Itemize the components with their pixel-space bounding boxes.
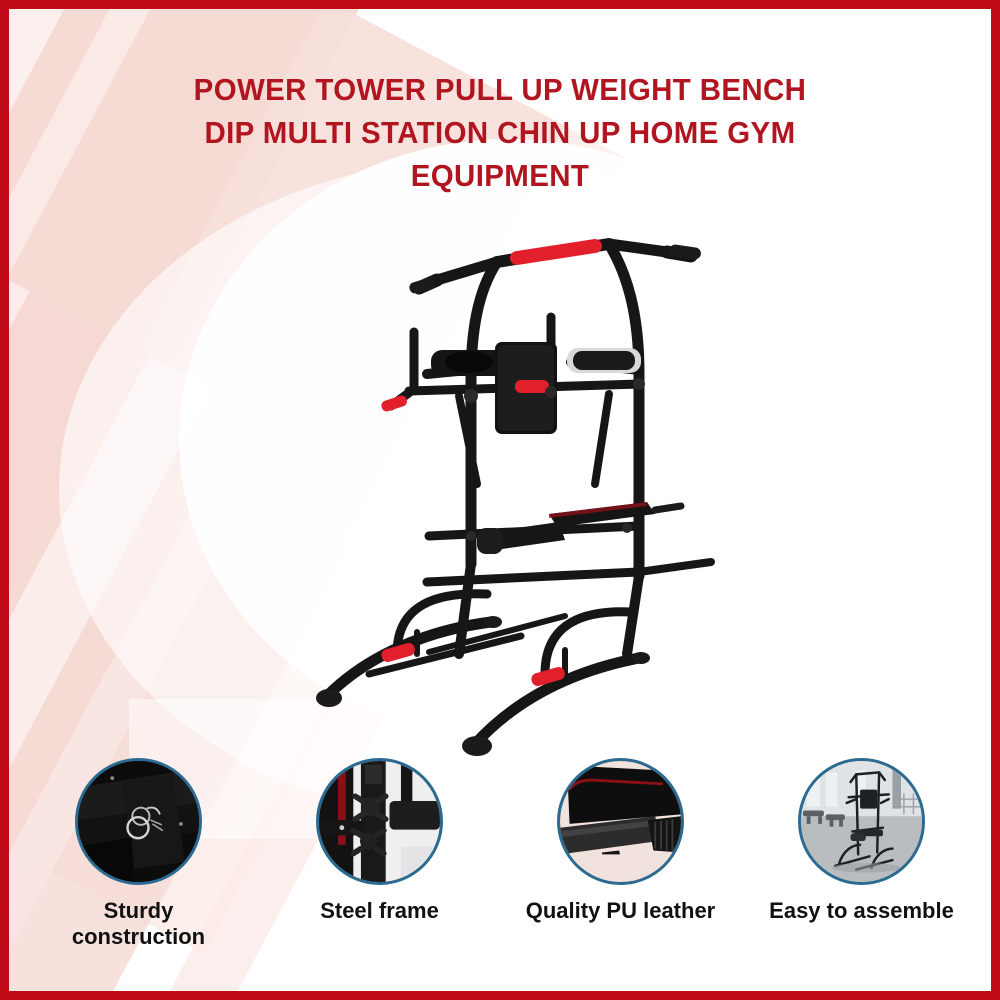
pu-leather-pad-closeup-icon [560, 761, 681, 882]
feature-quality-pu-leather: Quality PU leather [513, 758, 728, 924]
bolted-joint-closeup-icon [78, 761, 199, 882]
feature-label-quality-pu-leather: Quality PU leather [526, 898, 716, 924]
feature-image-easy-to-assemble [798, 758, 925, 885]
feature-easy-to-assemble: Easy to assemble [754, 758, 969, 924]
steel-tube-frame-closeup-icon [319, 761, 440, 882]
right-arm-pad [567, 348, 641, 373]
feature-label-sturdy-construction: Sturdy construction [39, 898, 239, 950]
feature-label-steel-frame: Steel frame [320, 898, 439, 924]
feature-image-steel-frame [316, 758, 443, 885]
product-listing-poster: POWER TOWER PULL UP WEIGHT BENCH DIP MUL… [0, 0, 1000, 1000]
feature-label-easy-to-assemble: Easy to assemble [769, 898, 954, 924]
feature-sturdy-construction: Sturdy construction [31, 758, 246, 950]
left-arm-pad [431, 350, 505, 376]
feature-callout-row: Sturdy construction [18, 758, 982, 963]
page-title: POWER TOWER PULL UP WEIGHT BENCH DIP MUL… [34, 68, 967, 197]
feature-image-quality-pu-leather [557, 758, 684, 885]
power-tower-illustration [309, 184, 739, 769]
feature-steel-frame: Steel frame [272, 758, 487, 924]
gym-interior-with-power-tower-icon [801, 761, 922, 882]
pullup-bar-red-grip [517, 246, 595, 258]
hero-product-image [309, 184, 739, 769]
feature-image-sturdy-construction [75, 758, 202, 885]
